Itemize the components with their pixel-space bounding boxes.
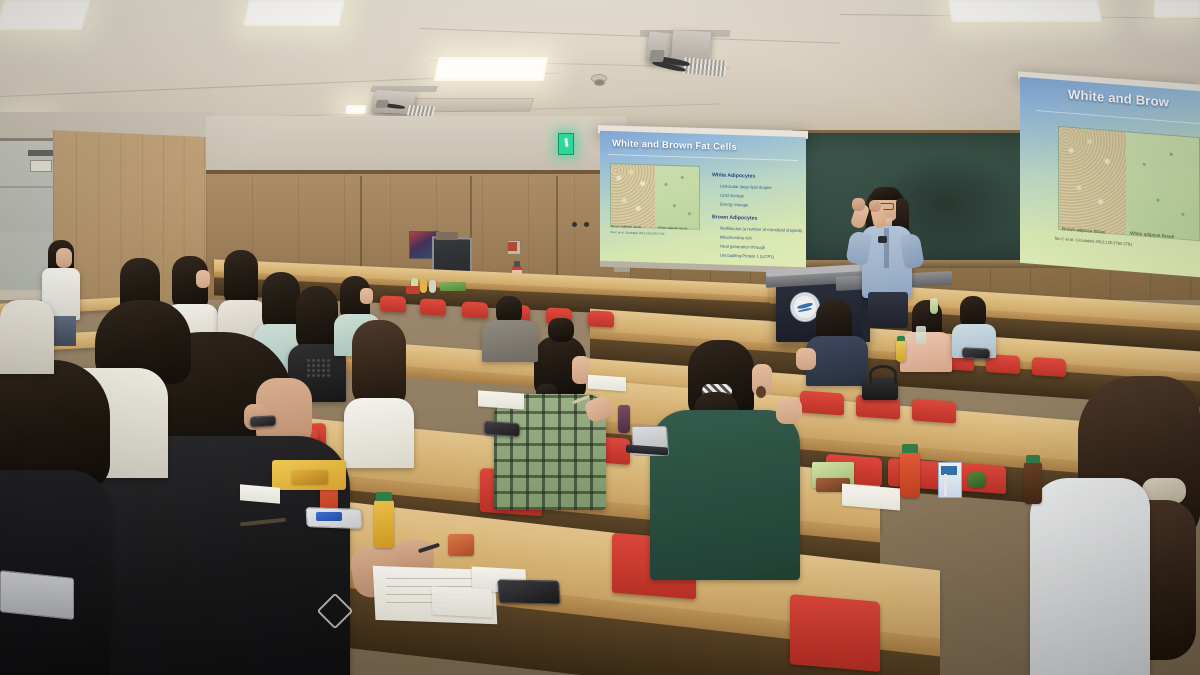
- drink-bottle[interactable]: [429, 280, 436, 293]
- secondary-slide: White and Brow Brown adipose tissue Whit…: [1020, 77, 1200, 277]
- wall-sign: [30, 160, 52, 172]
- handbag[interactable]: [862, 378, 898, 400]
- whiteboard-tray: [436, 232, 458, 240]
- smartphone[interactable]: [484, 421, 520, 438]
- slide-bullet: Unilocular large lipid droplet: [720, 184, 772, 191]
- figure-label-left: Brown adipose tissue: [611, 224, 641, 229]
- student-hand: [776, 398, 802, 424]
- student-hair: [548, 318, 574, 342]
- ceiling-panel-light: [345, 105, 367, 114]
- notebook-line: [386, 578, 484, 579]
- chair[interactable]: [420, 298, 446, 315]
- student-top-peach: [900, 332, 952, 372]
- snack-item[interactable]: [292, 470, 328, 484]
- student-hair: [296, 286, 338, 352]
- slide-heading-brown: Brown Adipocytes: [712, 214, 757, 221]
- laptop[interactable]: [0, 570, 74, 620]
- chair[interactable]: [1032, 357, 1066, 377]
- ceiling-panel-light: [0, 0, 90, 30]
- ceiling-panel-light: [1154, 0, 1200, 18]
- extinguisher-valve: [514, 261, 520, 267]
- earring-icon: [756, 386, 766, 398]
- water-glass[interactable]: [916, 326, 926, 344]
- chair[interactable]: [588, 310, 614, 327]
- bottle-cap[interactable]: [1026, 455, 1040, 463]
- snack-tray[interactable]: [440, 282, 466, 291]
- chair[interactable]: [800, 390, 844, 415]
- door-knob-icon[interactable]: [584, 222, 589, 227]
- smartphone[interactable]: [962, 347, 990, 359]
- figure-citation: Tao C et al. Circulation 2012;125:2782-2…: [1054, 235, 1132, 246]
- slide-figure: [610, 163, 700, 230]
- chair[interactable]: [912, 398, 956, 423]
- chair[interactable]: [462, 301, 488, 318]
- projector-lens: [375, 100, 389, 108]
- ceiling-panel-light: [948, 0, 1102, 22]
- juice-bottle[interactable]: [900, 452, 920, 498]
- juice-bottle[interactable]: [896, 340, 906, 362]
- student-top-grey: [482, 320, 538, 362]
- wall-trim: [206, 170, 630, 174]
- presenter-skirt: [868, 292, 908, 328]
- slide-figure: [1058, 126, 1200, 241]
- slide-bullet: Energy storage: [720, 202, 748, 208]
- student-face: [196, 270, 210, 288]
- bottle-cap[interactable]: [376, 492, 392, 501]
- student-hair: [224, 250, 258, 306]
- figure-label-right: White adipose tissue: [658, 226, 687, 231]
- student-dark-green-sweater: [650, 410, 800, 580]
- paper-handout[interactable]: [432, 586, 493, 617]
- paper-handout[interactable]: [240, 484, 280, 503]
- slide-heading-white: White Adipocytes: [712, 172, 755, 179]
- presenter-fringe: [871, 187, 901, 200]
- knit-texture: [306, 358, 332, 378]
- drink-bottle[interactable]: [1024, 462, 1042, 504]
- paper-handout[interactable]: [478, 390, 524, 409]
- presenter-watch-icon: [878, 236, 887, 243]
- slide-title: White and Brow: [1068, 87, 1169, 110]
- bottle-cap[interactable]: [902, 444, 918, 453]
- student-top-white: [0, 300, 54, 374]
- slide-bullet: Uncoupling Protein 1 (UCP1): [720, 253, 774, 260]
- student-top-white: [344, 398, 414, 468]
- lecture-hall-photo: White and Brown Fat Cells Brown adipose …: [0, 0, 1200, 675]
- snack-item[interactable]: [968, 472, 986, 488]
- foreground-student-white-tee: [1030, 478, 1150, 675]
- blouse-placket: [884, 228, 889, 268]
- wall-plate-label: [508, 242, 517, 251]
- chair[interactable]: [380, 295, 406, 312]
- drink-bottle[interactable]: [420, 279, 427, 293]
- bottle-cap[interactable]: [897, 336, 905, 341]
- projector-lens: [649, 50, 665, 62]
- standing-person-face: [56, 248, 72, 268]
- phone-case-decal: [316, 512, 342, 521]
- paper-handout[interactable]: [588, 375, 626, 392]
- presenter-hand-left: [852, 198, 865, 211]
- smartphone[interactable]: [250, 415, 276, 427]
- slide-title: White and Brown Fat Cells: [612, 138, 737, 153]
- snack-pack[interactable]: [406, 286, 420, 294]
- main-slide: White and Brown Fat Cells Brown adipose …: [600, 131, 806, 271]
- student-hair: [262, 272, 300, 332]
- juice-bottle[interactable]: [374, 500, 394, 548]
- snack-item[interactable]: [448, 534, 474, 556]
- slide-bullet: Multilocular (a number of microlipid dro…: [720, 226, 802, 234]
- ceiling-panel-light: [434, 57, 549, 81]
- door-knob-icon[interactable]: [572, 222, 577, 227]
- exit-sign: [558, 133, 574, 155]
- figure-citation: Tao C et al. Circulation 2012;125:2782-2…: [610, 230, 665, 236]
- water-bottle[interactable]: [930, 298, 938, 314]
- slide-bullet: Lipid storage: [720, 193, 744, 199]
- drink-bottle[interactable]: [618, 405, 630, 433]
- slide-bullet: Heat generation through: [720, 244, 765, 250]
- slide-bullet: Mitochondria rich: [720, 235, 752, 241]
- student-hand: [796, 348, 816, 370]
- student-face: [360, 288, 373, 304]
- presenter-hand-right: [869, 200, 881, 212]
- chair[interactable]: [790, 594, 880, 672]
- smoke-detector-icon: [594, 79, 605, 86]
- smartphone[interactable]: [497, 579, 561, 604]
- straw-icon: [944, 474, 947, 496]
- ceiling-panel-light: [243, 0, 345, 26]
- student-hair-long: [352, 320, 406, 408]
